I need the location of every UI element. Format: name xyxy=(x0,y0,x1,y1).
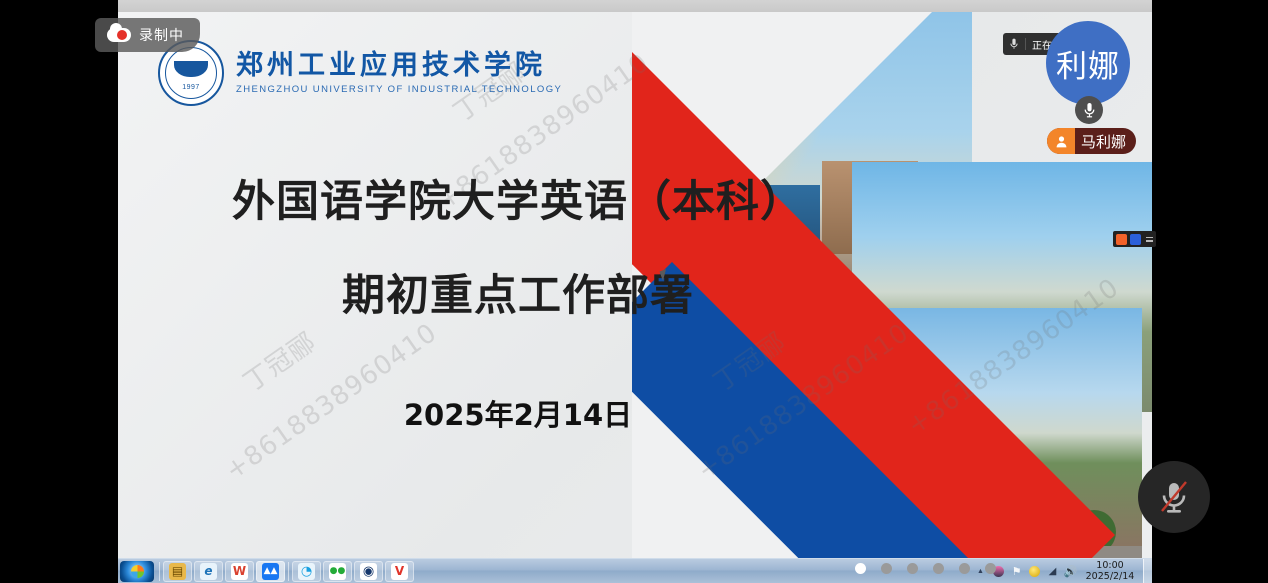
more-options-icon[interactable] xyxy=(1146,237,1153,242)
volume-icon[interactable]: 🔊 xyxy=(1064,565,1077,578)
participant-name: 马利娜 xyxy=(1075,131,1136,152)
folder-icon: ▤ xyxy=(169,563,186,580)
microphone-muted-icon xyxy=(1157,478,1191,516)
taskbar-button-explorer[interactable]: ▤ xyxy=(163,561,192,582)
v-app-icon: V xyxy=(391,563,408,580)
taskbar-button-dingtalk-meeting[interactable]: ◉ xyxy=(354,561,383,582)
network-icon[interactable]: ◢ xyxy=(1046,565,1059,578)
taskbar-button-internet-explorer[interactable]: e xyxy=(194,561,223,582)
clock-time: 10:00 xyxy=(1081,560,1139,571)
slide-title-line2: 期初重点工作部署 xyxy=(148,261,888,323)
recording-indicator[interactable]: 录制中 xyxy=(95,18,200,52)
taskbar-button-wps-writer[interactable]: W xyxy=(225,561,254,582)
taskbar-divider xyxy=(159,562,160,581)
taskbar-button-v-app[interactable]: V xyxy=(385,561,414,582)
meeting-screen-share-window: 丁冠郦 +8618838960410 丁冠郦 +8618838960410 丁冠… xyxy=(0,0,1268,583)
taskbar-empty-area xyxy=(415,559,974,583)
taskbar-button-blue-app[interactable]: ▲▲ xyxy=(256,561,285,582)
meeting-app-icon: ◉ xyxy=(360,563,377,580)
wechat-icon: ●● xyxy=(329,563,346,580)
slide-title-line1: 外国语学院大学英语（本科） xyxy=(148,167,888,229)
participant-name-chip: 马利娜 xyxy=(1047,128,1136,154)
slide-date: 2025年2月14日 xyxy=(148,392,888,434)
qq-chat-icon: ◔ xyxy=(298,563,315,580)
letterbox-left xyxy=(0,0,118,583)
slide-dot-3[interactable] xyxy=(907,563,918,574)
action-center-flag-icon[interactable]: ⚑ xyxy=(1010,565,1023,578)
share-screen-icon[interactable] xyxy=(1116,234,1127,245)
internet-explorer-icon: e xyxy=(200,563,217,580)
university-logo: 1997 郑州工业应用技术学院 ZHENGZHOU UNIVERSITY OF … xyxy=(158,40,562,106)
microphone-icon xyxy=(1003,38,1025,50)
wps-writer-icon: W xyxy=(231,563,248,580)
show-desktop-button[interactable] xyxy=(1143,559,1152,583)
slide-dot-6[interactable] xyxy=(985,563,996,574)
slide-dot-2[interactable] xyxy=(881,563,892,574)
taskbar-button-qq[interactable]: ◔ xyxy=(292,561,321,582)
participant-microphone-icon[interactable] xyxy=(1075,96,1103,124)
blue-app-icon: ▲▲ xyxy=(262,563,279,580)
security-shield-icon[interactable] xyxy=(1028,565,1041,578)
slide-navigation-dots[interactable] xyxy=(855,563,996,574)
taskbar-clock[interactable]: 10:00 2025/2/14 xyxy=(1081,560,1143,582)
university-name-en: ZHENGZHOU UNIVERSITY OF INDUSTRIAL TECHN… xyxy=(236,85,562,95)
app-top-band xyxy=(118,0,1152,12)
windows-taskbar[interactable]: ▤ e W ▲▲ ◔ ●● ◉ V xyxy=(118,558,1152,583)
annotate-icon[interactable] xyxy=(1130,234,1141,245)
taskbar-divider xyxy=(288,562,289,581)
floating-mini-toolbar[interactable] xyxy=(1113,231,1156,247)
university-name-cn: 郑州工业应用技术学院 xyxy=(236,52,562,79)
start-button[interactable] xyxy=(120,561,154,582)
slide-dot-1[interactable] xyxy=(855,563,866,574)
participant-avatar[interactable]: 利娜 xyxy=(1046,21,1130,105)
windows-logo-icon xyxy=(131,565,144,578)
slide-dot-5[interactable] xyxy=(959,563,970,574)
slide-dot-4[interactable] xyxy=(933,563,944,574)
presentation-slide[interactable]: 丁冠郦 +8618838960410 丁冠郦 +8618838960410 丁冠… xyxy=(118,12,1152,558)
person-icon xyxy=(1047,128,1075,154)
cloud-record-icon xyxy=(107,28,131,42)
watermark-name: 丁冠郦 xyxy=(235,322,323,399)
seal-year: 1997 xyxy=(160,84,222,91)
taskbar-button-wechat[interactable]: ●● xyxy=(323,561,352,582)
clock-date: 2025/2/14 xyxy=(1081,571,1139,582)
microphone-mute-button[interactable] xyxy=(1138,461,1210,533)
shared-screen-area[interactable]: 丁冠郦 +8618838960410 丁冠郦 +8618838960410 丁冠… xyxy=(118,0,1152,583)
slide-title: 外国语学院大学英语（本科） 期初重点工作部署 xyxy=(148,167,888,323)
recording-label: 录制中 xyxy=(139,25,184,45)
